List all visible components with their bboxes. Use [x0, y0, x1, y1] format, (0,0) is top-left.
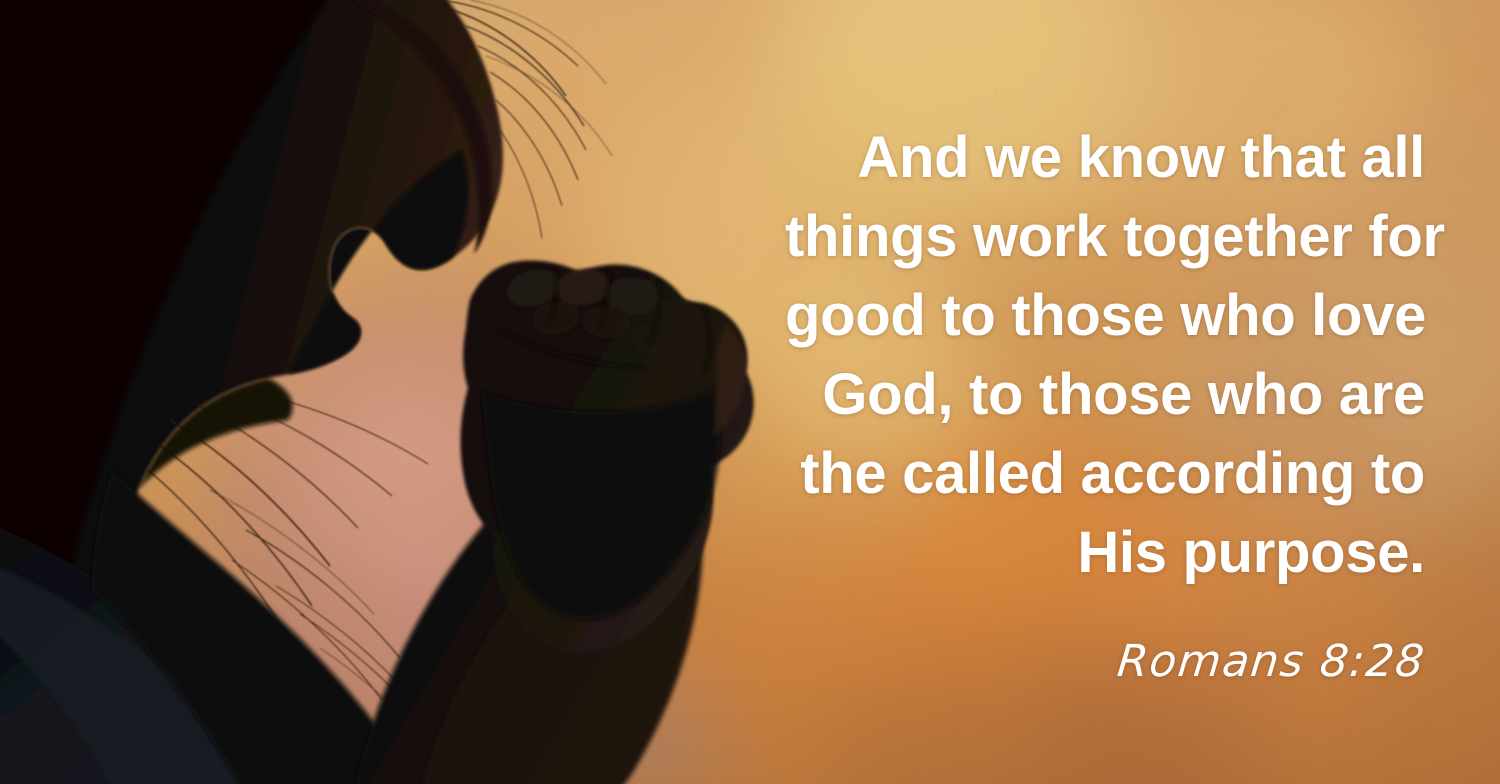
quote-card: And we know that all things work togethe… — [0, 0, 1500, 784]
scripture-quote: And we know that all things work togethe… — [785, 118, 1425, 592]
quote-line: His purpose. — [785, 513, 1425, 592]
scripture-reference: Romans 8:28 — [782, 636, 1427, 688]
quote-line: And we know that all — [785, 118, 1425, 197]
quote-line: things work together for — [785, 197, 1425, 276]
quote-line: the called according to — [785, 434, 1425, 513]
quote-line: God, to those who are — [785, 355, 1425, 434]
quote-line: good to those who love — [785, 276, 1425, 355]
